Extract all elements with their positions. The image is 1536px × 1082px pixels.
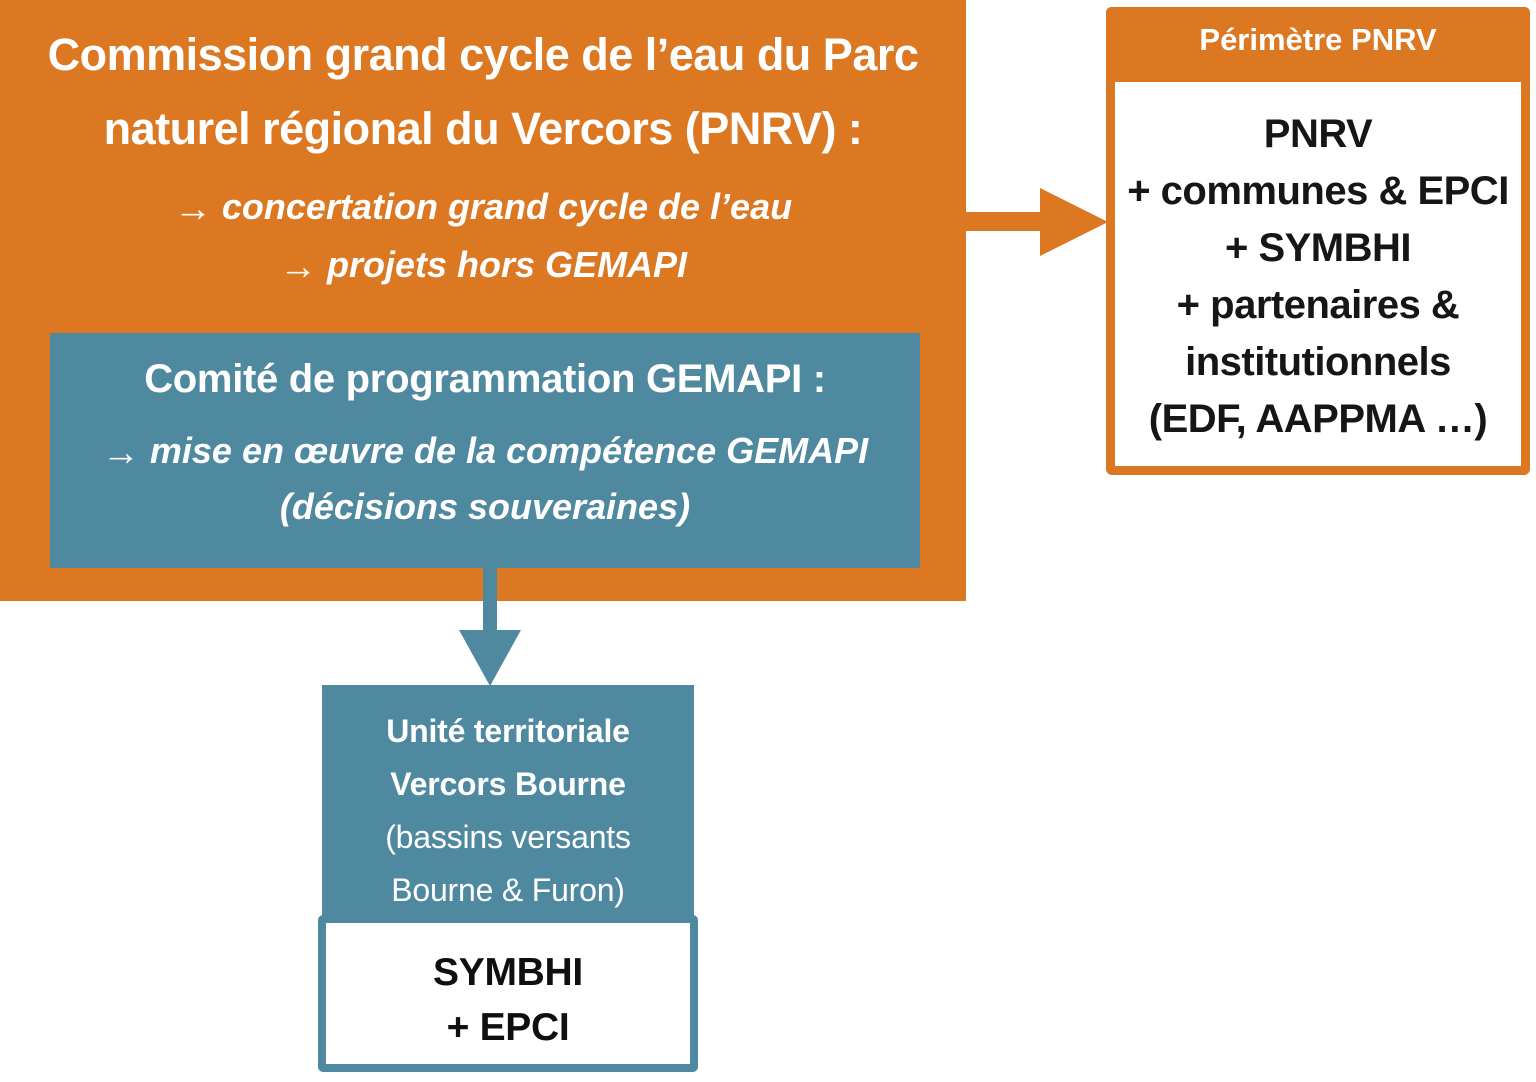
- perimetre-line-2: + communes & EPCI: [1123, 163, 1513, 220]
- perimetre-line-4: + partenaires &: [1123, 277, 1513, 334]
- perimetre-line-6: (EDF, AAPPMA …): [1123, 391, 1513, 448]
- comite-title: Comité de programmation GEMAPI :: [60, 355, 910, 403]
- connector-to-unit-arrowhead-icon: [459, 630, 521, 686]
- unite-header-line-2: Vercors Bourne: [328, 758, 688, 811]
- unite-header-line-4: Bourne & Furon): [328, 864, 688, 917]
- unite-body-line-1: SYMBHI: [332, 945, 684, 1000]
- unite-territoriale-header: Unité territoriale Vercors Bourne (bassi…: [322, 685, 694, 923]
- right-arrow-icon: →: [279, 238, 317, 296]
- unite-territoriale-body: SYMBHI + EPCI: [318, 915, 698, 1072]
- comite-bullet-1: → mise en œuvre de la compétence GEMAPI: [60, 423, 910, 479]
- comite-bullets: → mise en œuvre de la compétence GEMAPI …: [60, 423, 910, 535]
- connector-to-perimeter-arrowhead-icon: [1040, 188, 1108, 256]
- unite-territoriale-header-text: Unité territoriale Vercors Bourne (bassi…: [328, 705, 688, 917]
- unite-body-line-2: + EPCI: [332, 1000, 684, 1055]
- commission-bullet-2: → projets hors GEMAPI: [12, 236, 954, 294]
- commission-title: Commission grand cycle de l’eau du Parc …: [12, 18, 954, 166]
- unite-territoriale-group: Unité territoriale Vercors Bourne (bassi…: [322, 685, 694, 1075]
- perimetre-pnrv-group: PNRV + communes & EPCI + SYMBHI + parten…: [1106, 7, 1530, 475]
- unite-header-line-1: Unité territoriale: [328, 705, 688, 758]
- perimetre-line-1: PNRV: [1123, 106, 1513, 163]
- commission-title-line-2: naturel régional du Vercors (PNRV) :: [12, 92, 954, 166]
- right-arrow-icon: →: [174, 180, 212, 238]
- commission-bullet-1-label: concertation grand cycle de l’eau: [222, 186, 792, 227]
- comite-bullet-1-label: mise en œuvre de la compétence GEMAPI: [150, 430, 868, 471]
- commission-title-line-1: Commission grand cycle de l’eau du Parc: [12, 18, 954, 92]
- perimetre-pnrv-members: PNRV + communes & EPCI + SYMBHI + parten…: [1123, 106, 1513, 448]
- commission-bullet-1: → concertation grand cycle de l’eau: [12, 178, 954, 236]
- diagram-canvas: Commission grand cycle de l’eau du Parc …: [0, 0, 1536, 1082]
- commission-grand-cycle-panel: Commission grand cycle de l’eau du Parc …: [0, 0, 966, 601]
- perimetre-pnrv-body: PNRV + communes & EPCI + SYMBHI + parten…: [1106, 73, 1530, 475]
- comite-programmation-gemapi-panel: Comité de programmation GEMAPI : → mise …: [50, 333, 920, 568]
- comite-bullet-2: (décisions souveraines): [60, 479, 910, 535]
- perimetre-line-5: institutionnels: [1123, 334, 1513, 391]
- commission-bullets: → concertation grand cycle de l’eau → pr…: [12, 178, 954, 294]
- perimetre-line-3: + SYMBHI: [1123, 220, 1513, 277]
- right-arrow-icon: →: [102, 425, 140, 481]
- commission-bullet-2-label: projets hors GEMAPI: [327, 244, 687, 285]
- perimetre-pnrv-header: Périmètre PNRV: [1106, 7, 1530, 80]
- unite-header-line-3: (bassins versants: [328, 811, 688, 864]
- unite-territoriale-members: SYMBHI + EPCI: [332, 945, 684, 1055]
- comite-bullet-2-label: (décisions souveraines): [280, 486, 690, 527]
